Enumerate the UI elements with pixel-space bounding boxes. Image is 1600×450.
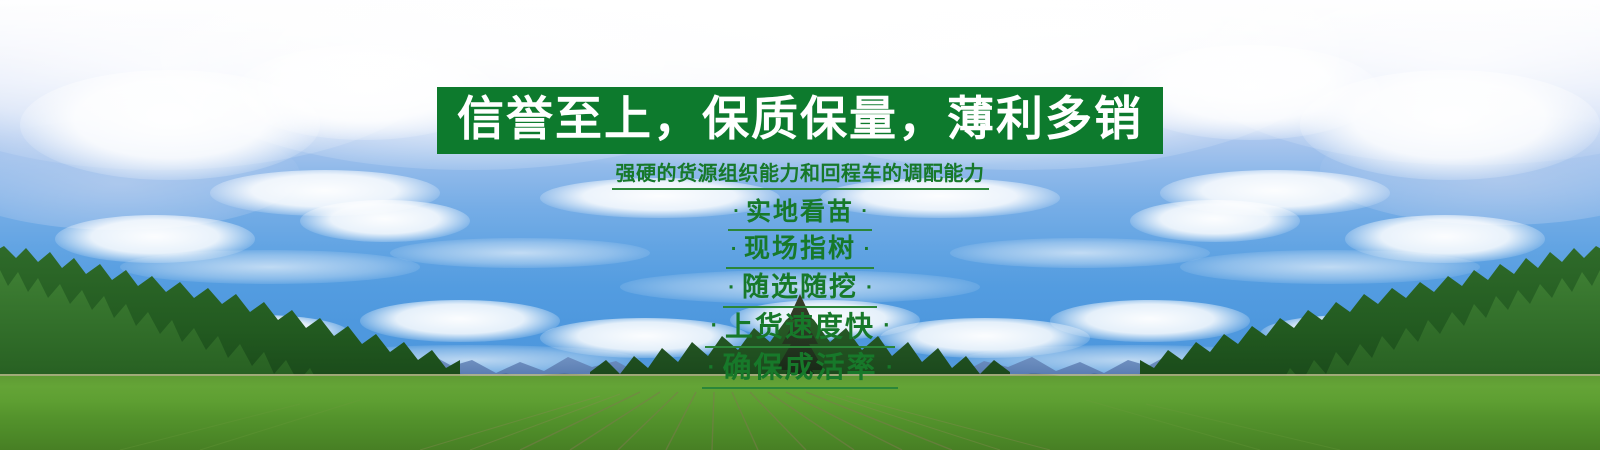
- feature-list: · 实地看苗 · · 现场指树 · · 随选随挖 · · 上货速度快 · ·: [702, 199, 898, 394]
- bullet-dot-left: ·: [702, 359, 720, 377]
- feature-label: 实地看苗: [743, 199, 856, 224]
- feature-label: 上货速度快: [722, 313, 878, 341]
- promo-banner: 信誉至上，保质保量，薄利多销 强硬的货源组织能力和回程车的调配能力 · 实地看苗…: [0, 0, 1600, 450]
- bullet-dot-right: ·: [880, 359, 898, 377]
- bullet-dot-right: ·: [859, 241, 875, 257]
- headline-bar: 信誉至上，保质保量，薄利多销: [437, 87, 1163, 154]
- feature-label: 现场指树: [741, 236, 858, 262]
- bullet-dot-right: ·: [861, 279, 877, 296]
- feature-item: · 上货速度快 ·: [705, 313, 895, 348]
- feature-item: · 随选随挖 ·: [723, 274, 877, 308]
- bullet-dot-left: ·: [705, 318, 722, 335]
- bullet-dot-left: ·: [726, 241, 742, 257]
- bullet-dot-right: ·: [878, 318, 895, 335]
- subtitle: 强硬的货源组织能力和回程车的调配能力: [612, 163, 989, 190]
- bullet-dot-right: ·: [857, 204, 872, 220]
- feature-item: · 实地看苗 ·: [728, 199, 871, 231]
- bullet-dot-left: ·: [728, 204, 743, 220]
- feature-item: · 现场指树 ·: [726, 236, 875, 269]
- feature-label: 确保成活率: [720, 353, 881, 382]
- feature-label: 随选随挖: [739, 274, 860, 301]
- bullet-dot-left: ·: [723, 279, 739, 296]
- feature-item: · 确保成活率 ·: [702, 353, 898, 389]
- banner-content: 信誉至上，保质保量，薄利多销 强硬的货源组织能力和回程车的调配能力 · 实地看苗…: [0, 0, 1600, 450]
